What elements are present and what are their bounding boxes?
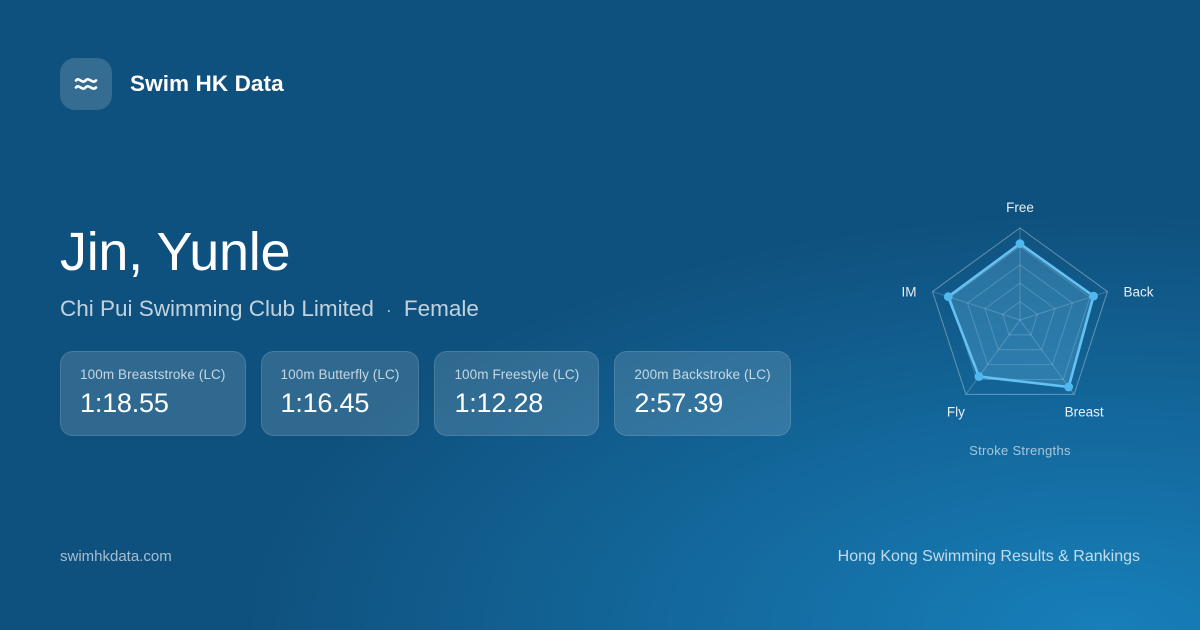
event-time: 1:16.45 <box>281 388 400 419</box>
radar-label-back: Back <box>1124 285 1154 300</box>
event-name: 100m Freestyle (LC) <box>454 367 579 382</box>
athlete-club: Chi Pui Swimming Club Limited <box>60 296 374 322</box>
event-name: 100m Breaststroke (LC) <box>80 367 226 382</box>
athlete-meta: Chi Pui Swimming Club Limited · Female <box>60 296 479 322</box>
event-card-list: 100m Breaststroke (LC) 1:18.55 100m Butt… <box>60 351 791 436</box>
wave-icon <box>60 58 112 110</box>
event-name: 200m Backstroke (LC) <box>634 367 770 382</box>
radar-caption: Stroke Strengths <box>870 443 1170 458</box>
event-card: 100m Breaststroke (LC) 1:18.55 <box>60 351 246 436</box>
radar-point-fly <box>975 372 984 381</box>
page-title: Jin, Yunle <box>60 222 479 282</box>
event-card: 200m Backstroke (LC) 2:57.39 <box>614 351 790 436</box>
radar-label-free: Free <box>1006 200 1034 215</box>
brand: Swim HK Data <box>60 58 284 110</box>
event-name: 100m Butterfly (LC) <box>281 367 400 382</box>
meta-separator: · <box>374 300 404 321</box>
event-card: 100m Freestyle (LC) 1:12.28 <box>434 351 599 436</box>
event-card: 100m Butterfly (LC) 1:16.45 <box>261 351 420 436</box>
radar-label-breast: Breast <box>1065 404 1104 419</box>
radar-point-im <box>944 292 953 301</box>
stroke-strengths-radar-chart: FreeBackBreastFlyIM Stroke Strengths <box>870 165 1170 465</box>
event-time: 1:18.55 <box>80 388 226 419</box>
radar-point-free <box>1016 239 1025 248</box>
event-time: 1:12.28 <box>454 388 579 419</box>
radar-point-back <box>1089 292 1098 301</box>
footer-site: swimhkdata.com <box>60 548 172 565</box>
radar-label-fly: Fly <box>947 404 965 419</box>
event-time: 2:57.39 <box>634 388 770 419</box>
brand-name: Swim HK Data <box>130 71 284 97</box>
footer-tagline: Hong Kong Swimming Results & Rankings <box>838 548 1140 566</box>
radar-label-im: IM <box>902 285 917 300</box>
athlete-gender: Female <box>404 296 479 322</box>
athlete-header: Jin, Yunle Chi Pui Swimming Club Limited… <box>60 222 479 322</box>
poster-card: Swim HK Data Jin, Yunle Chi Pui Swimming… <box>0 0 1200 630</box>
radar-point-breast <box>1064 383 1073 392</box>
